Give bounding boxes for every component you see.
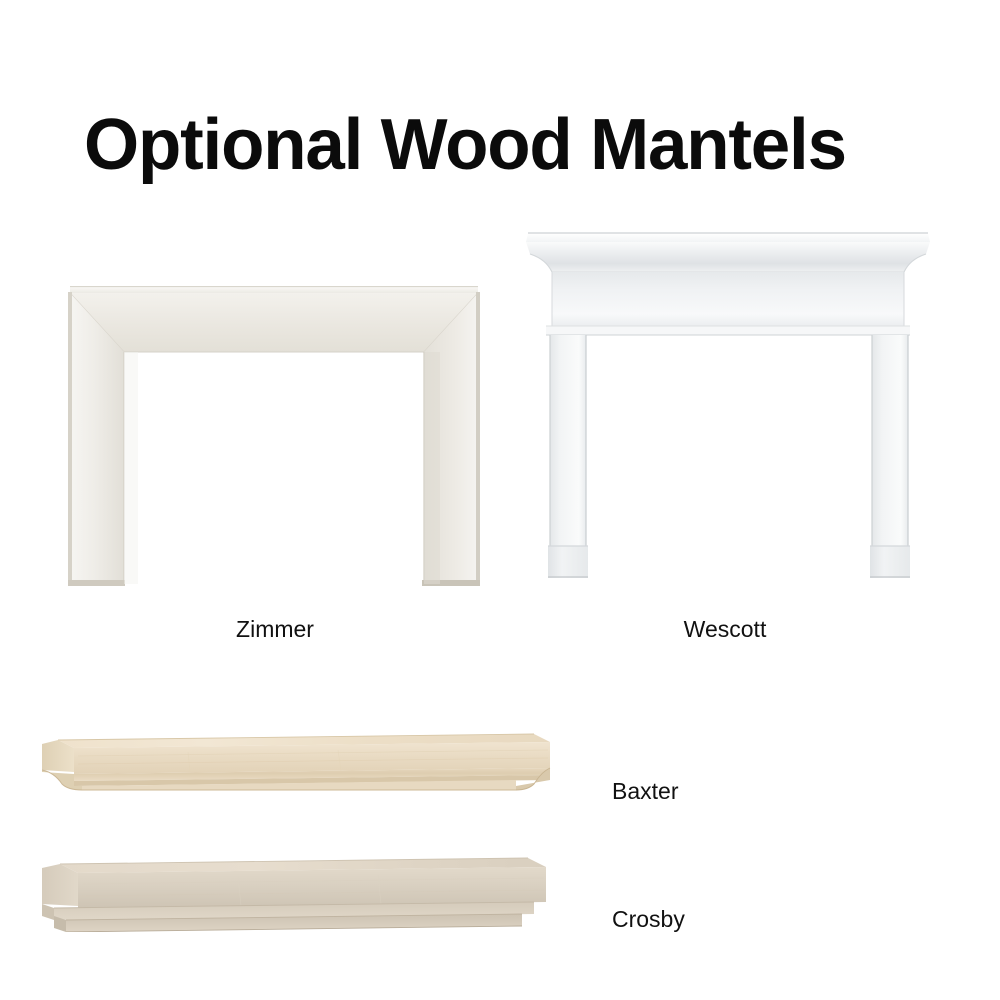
zimmer-caption: Zimmer <box>175 616 375 643</box>
page-title: Optional Wood Mantels <box>84 105 931 185</box>
baxter-mantel-image <box>38 728 554 798</box>
mantel-options-page: Optional Wood Mantels <box>0 0 1000 1000</box>
baxter-caption: Baxter <box>612 778 678 805</box>
crosby-mantel-image <box>38 854 550 932</box>
wescott-caption: Wescott <box>625 616 825 643</box>
wescott-mantel-image <box>516 228 940 586</box>
zimmer-mantel-image <box>68 286 480 588</box>
crosby-caption: Crosby <box>612 906 685 933</box>
